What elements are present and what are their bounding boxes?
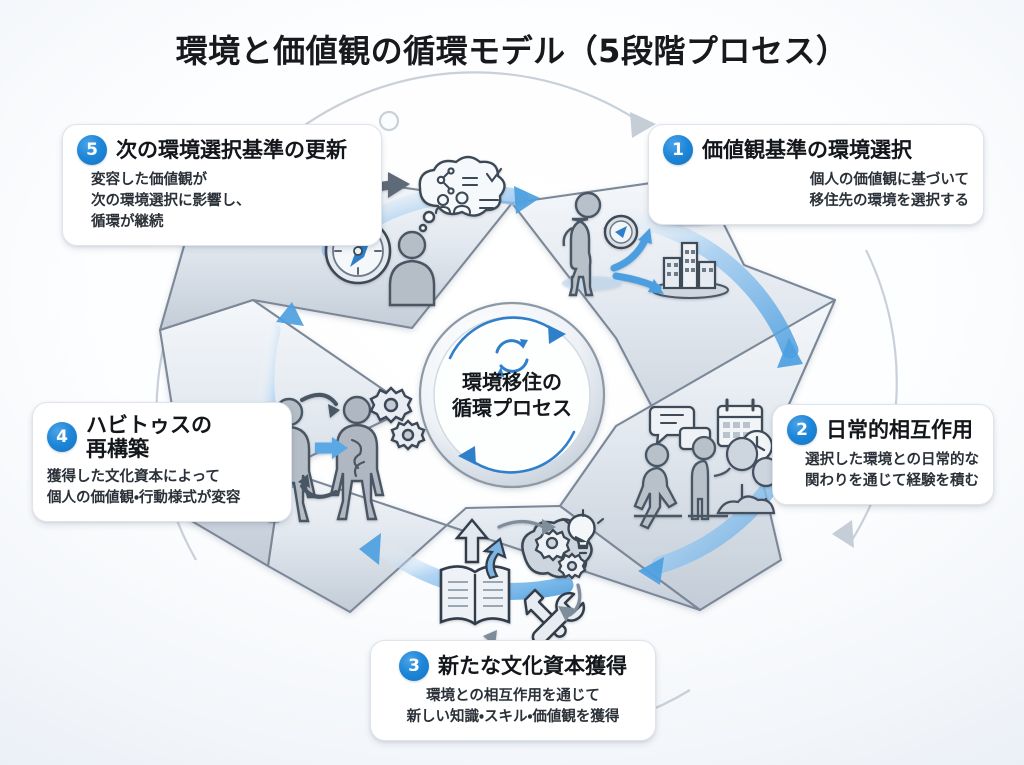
step-3-title: 新たな文化資本獲得 [438,654,627,678]
step-4-title: ハビトゥスの 再構築 [86,413,212,462]
diagram-canvas: 環境と価値観の循環モデル（5段階プロセス） [0,0,1024,765]
step-1-badge: 1 [663,135,693,165]
compass-icon [605,216,637,248]
step-card-1[interactable]: 1 価値観基準の環境選択 個人の価値観に基づいて 移住先の環境を選択する [648,124,984,225]
step-4-body: 獲得した文化資本によって 個人の価値観・行動様式が変容 [47,467,277,509]
step-3-badge: 3 [399,651,429,681]
step-4-header: 4 ハビトゥスの 再構築 [47,413,277,462]
step-1-body: 個人の価値観に基づいて 移住先の環境を選択する [663,170,969,212]
step-3-body: 環境との相互作用を通じて 新しい知識・スキル・価値観を獲得 [385,686,641,728]
step-2-header: 2 日常的相互作用 [787,415,979,445]
center-hub-label: 環境移住の 循環プロセス [422,369,602,421]
hammer-wrench-icon [525,590,584,644]
step-card-5[interactable]: 5 次の環境選択基準の更新 変容した価値観が 次の環境選択に影響し、 循環が継続 [62,124,382,246]
step-card-2[interactable]: 2 日常的相互作用 選択した環境との日常的な 関わりを通じて経験を積む [772,404,994,505]
step-5-badge: 5 [77,135,107,165]
step-1-title: 価値観基準の環境選択 [702,138,912,162]
step-card-4[interactable]: 4 ハビトゥスの 再構築 獲得した文化資本によって 個人の価値観・行動様式が変容 [32,402,292,522]
step-5-title: 次の環境選択基準の更新 [116,138,347,162]
step-3-header: 3 新たな文化資本獲得 [385,651,641,681]
step-4-badge: 4 [47,422,77,452]
step-card-3[interactable]: 3 新たな文化資本獲得 環境との相互作用を通じて 新しい知識・スキル・価値観を獲… [370,640,656,741]
center-hub: 環境移住の 循環プロセス [422,305,602,485]
step-2-title: 日常的相互作用 [826,418,973,442]
step-5-header: 5 次の環境選択基準の更新 [77,135,367,165]
gears-icon [371,388,424,449]
step-5-body: 変容した価値観が 次の環境選択に影響し、 循環が継続 [91,170,367,233]
step-2-badge: 2 [787,415,817,445]
step-1-header: 1 価値観基準の環境選択 [663,135,969,165]
step-2-body: 選択した環境との日常的な 関わりを通じて経験を積む [787,450,979,492]
